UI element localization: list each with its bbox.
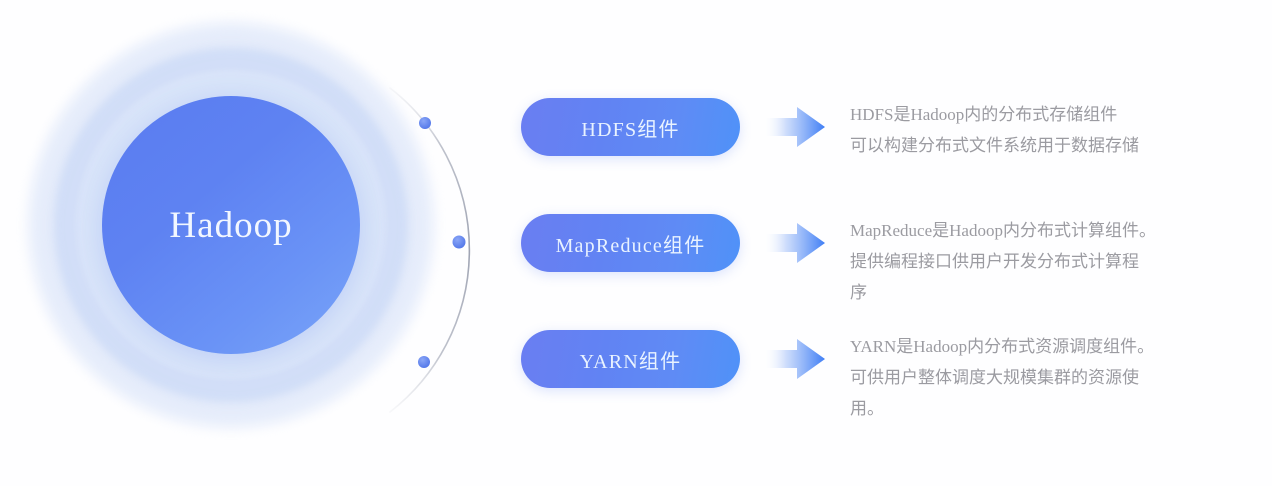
component-pill-label: HDFS组件 — [581, 113, 679, 142]
description-line: HDFS是Hadoop内的分布式存储组件 — [850, 99, 1230, 130]
component-row-hdfs: HDFS组件 HDFS是Hadoop内的分布式存储组件 可以构建分布式文件系统用… — [521, 98, 1230, 161]
description-line: 提供编程接口供用户开发分布式计算程 — [850, 246, 1230, 277]
hadoop-orbit-graphic: Hadoop — [28, 22, 478, 466]
component-pill-yarn[interactable]: YARN组件 — [521, 330, 740, 388]
description-line: 可供用户整体调度大规模集群的资源使 — [850, 362, 1230, 393]
arrow-right-glyph — [764, 105, 826, 149]
component-pill-label: MapReduce组件 — [556, 229, 706, 258]
component-pill-mapreduce[interactable]: MapReduce组件 — [521, 214, 740, 272]
component-row-mapreduce: MapReduce组件 MapReduce是Hadoop内分布式计算组件。 提供… — [521, 214, 1230, 308]
arrow-right-glyph — [764, 337, 826, 381]
description-line: 可以构建分布式文件系统用于数据存储 — [850, 130, 1230, 161]
orbit-dot-3[interactable] — [418, 356, 430, 368]
component-pill-label: YARN组件 — [580, 345, 682, 374]
arrow-right-icon — [740, 214, 850, 272]
component-description-mapreduce: MapReduce是Hadoop内分布式计算组件。 提供编程接口供用户开发分布式… — [850, 214, 1230, 308]
hadoop-core-circle[interactable]: Hadoop — [102, 96, 360, 354]
description-line: 用。 — [850, 393, 1230, 424]
orbit-dot-2[interactable] — [453, 236, 466, 249]
component-description-hdfs: HDFS是Hadoop内的分布式存储组件 可以构建分布式文件系统用于数据存储 — [850, 98, 1230, 161]
arrow-right-icon — [740, 98, 850, 156]
component-pill-hdfs[interactable]: HDFS组件 — [521, 98, 740, 156]
description-line: MapReduce是Hadoop内分布式计算组件。 — [850, 215, 1230, 246]
component-description-yarn: YARN是Hadoop内分布式资源调度组件。 可供用户整体调度大规模集群的资源使… — [850, 330, 1230, 424]
diagram-canvas: Hadoop H — [0, 0, 1272, 486]
description-line: YARN是Hadoop内分布式资源调度组件。 — [850, 331, 1230, 362]
hadoop-core-label: Hadoop — [169, 207, 292, 244]
component-row-yarn: YARN组件 YARN是Hadoop内分布式资源调度组件。 可供用户整体调度大规… — [521, 330, 1230, 424]
orbit-dot-1[interactable] — [419, 117, 431, 129]
description-line: 序 — [850, 277, 1230, 308]
arrow-right-icon — [740, 330, 850, 388]
arrow-right-glyph — [764, 221, 826, 265]
